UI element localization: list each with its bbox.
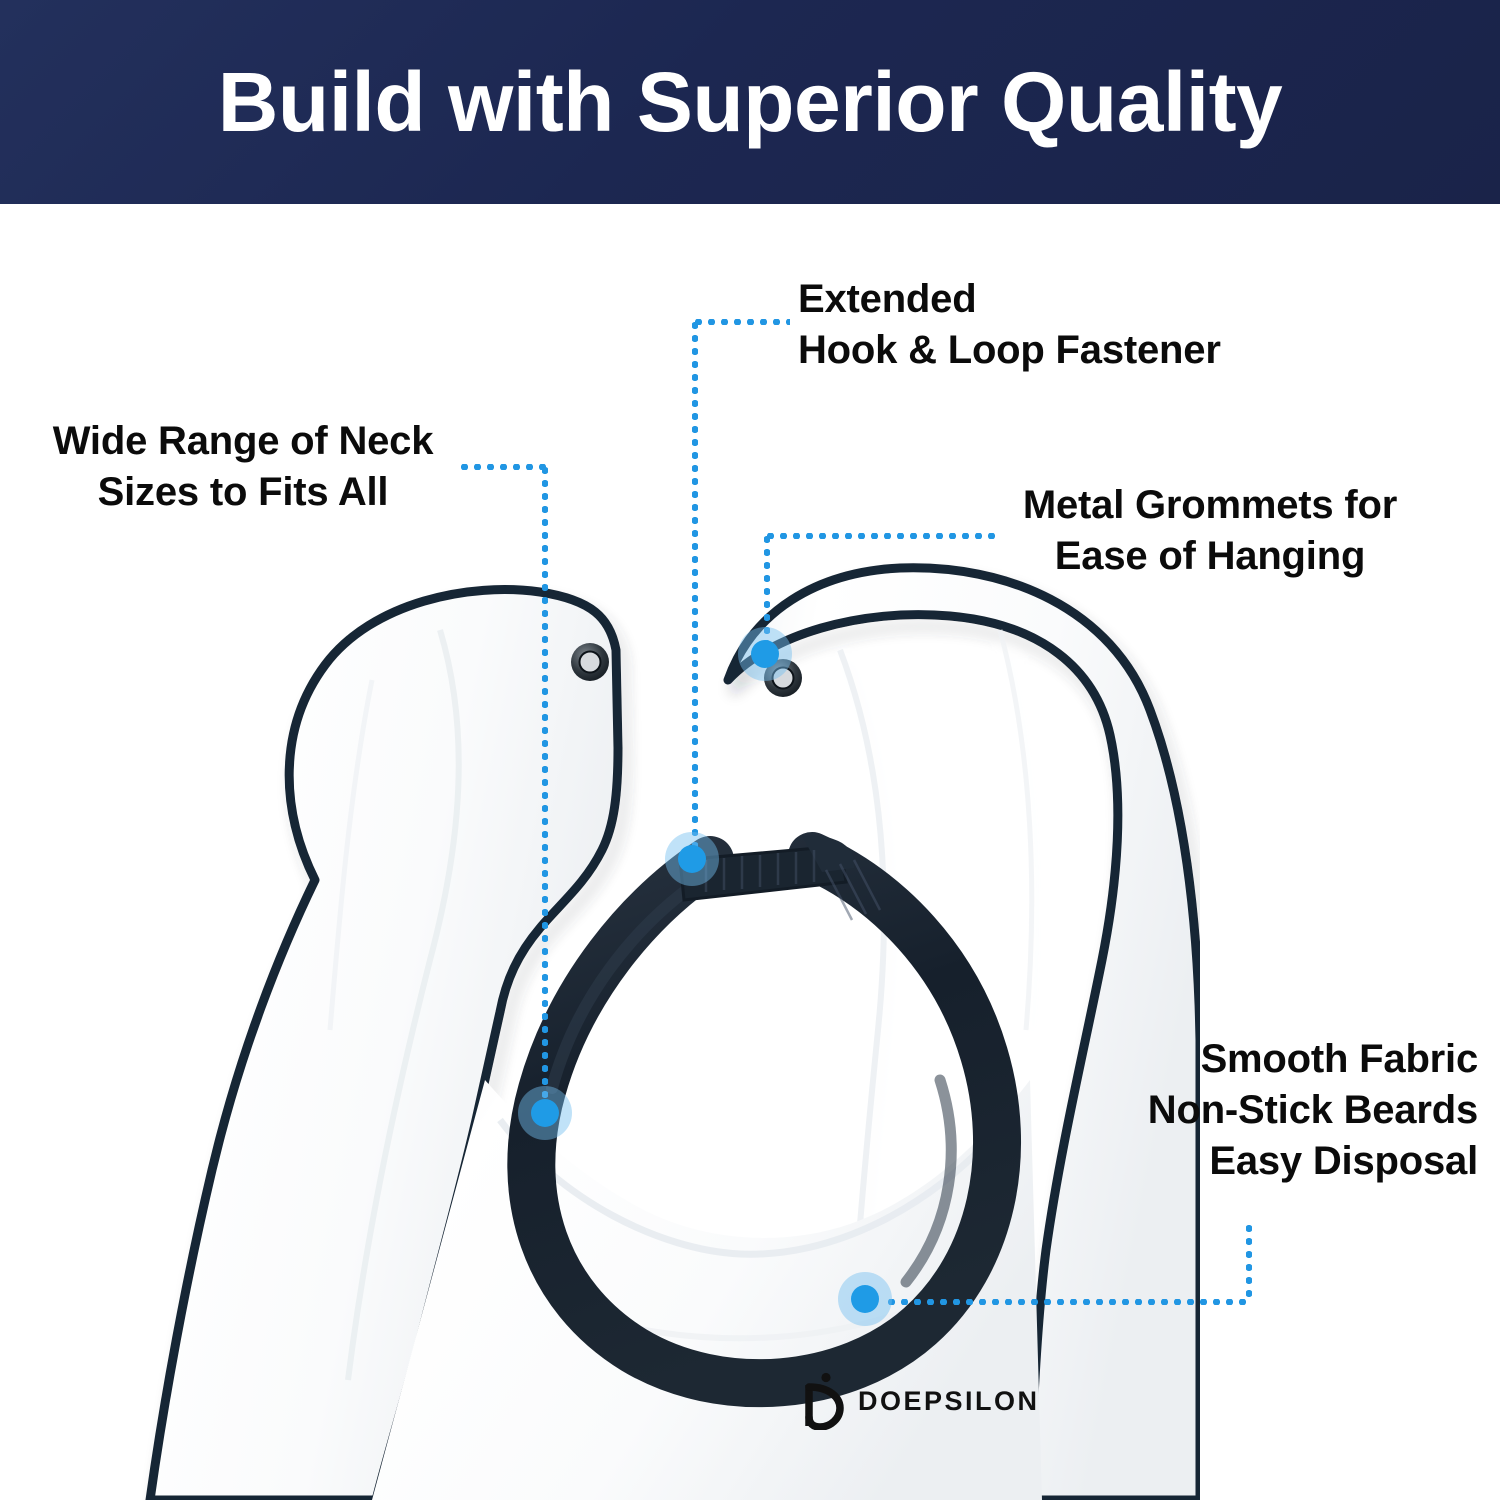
callout-hook-loop-line-1: Extended xyxy=(798,274,1221,325)
header-banner: Build with Superior Quality xyxy=(0,0,1500,204)
callout-fabric-line-3: Easy Disposal xyxy=(1060,1136,1478,1187)
callout-grommets-line-2: Ease of Hanging xyxy=(1000,531,1420,582)
marker-grommet[interactable] xyxy=(738,627,792,681)
leader-hookloop-vertical xyxy=(692,319,698,857)
leader-neck-horizontal xyxy=(458,464,548,470)
callout-hook-loop-line-2: Hook & Loop Fastener xyxy=(798,325,1221,376)
callout-neck-sizes-line-2: Sizes to Fits All xyxy=(28,467,458,518)
beard-bib-illustration xyxy=(140,560,1200,1500)
product-image xyxy=(140,560,1200,1500)
callout-hook-loop: Extended Hook & Loop Fastener xyxy=(798,274,1221,376)
callout-fabric: Smooth Fabric Non-Stick Beards Easy Disp… xyxy=(1060,1034,1478,1188)
leader-neck-vertical xyxy=(542,464,548,1119)
callout-neck-sizes: Wide Range of Neck Sizes to Fits All xyxy=(28,416,458,518)
leader-fabric-horizontal xyxy=(885,1299,1252,1305)
callout-grommets-line-1: Metal Grommets for xyxy=(1000,480,1420,531)
marker-neck-size-strap[interactable] xyxy=(518,1086,572,1140)
callout-neck-sizes-line-1: Wide Range of Neck xyxy=(28,416,458,467)
page-title: Build with Superior Quality xyxy=(218,60,1283,144)
doepsilon-mark-icon xyxy=(800,1372,844,1430)
callout-fabric-line-1: Smooth Fabric xyxy=(1060,1034,1478,1085)
leader-fabric-vertical xyxy=(1246,1222,1252,1302)
callout-grommets: Metal Grommets for Ease of Hanging xyxy=(1000,480,1420,582)
marker-fabric[interactable] xyxy=(838,1272,892,1326)
marker-hook-loop-fastener[interactable] xyxy=(665,832,719,886)
leader-hookloop-horizontal xyxy=(692,319,790,325)
brand-logo: DOEPSILON xyxy=(800,1372,1040,1430)
leader-grommet-horizontal xyxy=(764,533,1000,539)
grommet-left xyxy=(571,643,609,681)
callout-fabric-line-2: Non-Stick Beards xyxy=(1060,1085,1478,1136)
brand-name: DOEPSILON xyxy=(858,1386,1040,1417)
